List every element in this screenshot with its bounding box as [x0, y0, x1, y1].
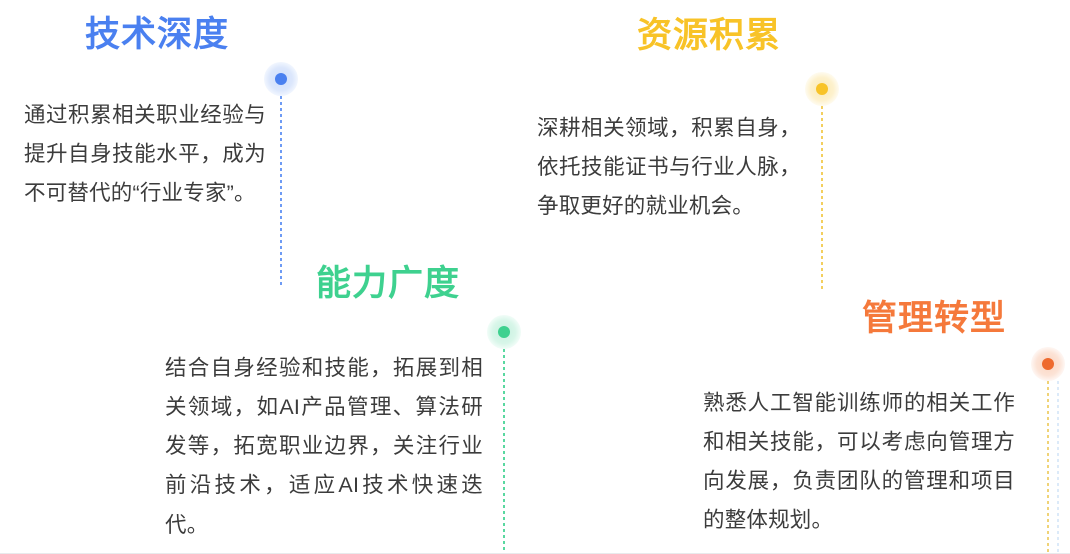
- connector-line-tech-depth: [280, 96, 282, 286]
- marker-core-tech-depth: [275, 73, 287, 85]
- card-body-capability-breadth: 结合自身经验和技能，拓展到相关领域，如AI产品管理、算法研发等，拓宽职业边界，关…: [165, 349, 483, 545]
- marker-core-management-transition: [1042, 358, 1054, 370]
- marker-core-resource-accumulation: [816, 83, 828, 95]
- connector-line-resource-accumulation: [821, 106, 823, 292]
- marker-core-capability-breadth: [498, 326, 510, 338]
- marker-dot-tech-depth: [264, 62, 298, 96]
- card-body-management-transition: 熟悉人工智能训练师的相关工作和相关技能，可以考虑向管理方向发展，负责团队的管理和…: [703, 384, 1015, 541]
- card-title-capability-breadth: 能力广度: [316, 266, 460, 301]
- infographic-canvas: 技术深度 通过积累相关职业经验与提升自身技能水平，成为不可替代的“行业专家”。 …: [0, 0, 1070, 554]
- card-title-management-transition: 管理转型: [862, 301, 1006, 336]
- card-title-resource-accumulation: 资源积累: [637, 18, 781, 53]
- marker-dot-resource-accumulation: [805, 72, 839, 106]
- connector-line-secondary-management-transition: [1057, 381, 1059, 554]
- card-body-tech-depth: 通过积累相关职业经验与提升自身技能水平，成为不可替代的“行业专家”。: [24, 96, 266, 213]
- marker-dot-capability-breadth: [487, 315, 521, 349]
- card-title-tech-depth: 技术深度: [85, 17, 229, 52]
- connector-line-capability-breadth: [503, 349, 505, 554]
- marker-dot-management-transition: [1031, 347, 1065, 381]
- card-body-resource-accumulation: 深耕相关领域，积累自身，依托技能证书与行业人脉，争取更好的就业机会。: [537, 109, 801, 226]
- connector-line-management-transition: [1047, 381, 1049, 554]
